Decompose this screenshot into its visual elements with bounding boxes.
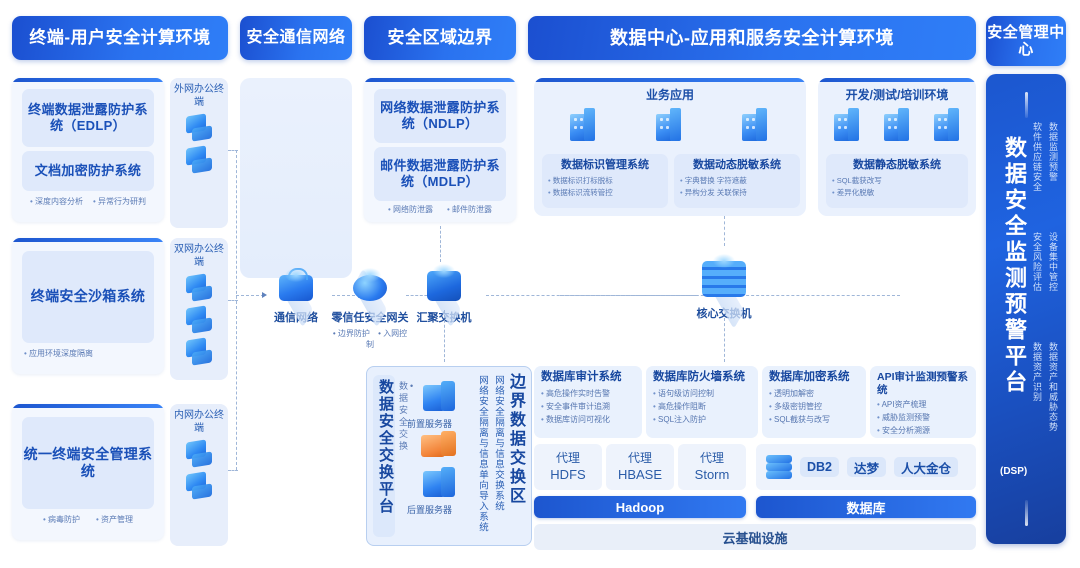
system-edlp: 终端数据泄露防护系统（EDLP） [22,89,154,147]
db-system-audit: 数据库审计系统 高危操作实时告警 安全事件审计追溯 数据库访问可视化 [534,366,642,438]
zone-system-exchange: 网络安全隔离与信息交换系统 [491,375,505,512]
dsp-capability-1-right: 设备集中管控 [1047,232,1060,292]
device-core-switch: 核心交换机 [676,246,772,322]
connector-core-down [724,318,725,362]
boundary-exchange-zone: 边界数据交换区 网络安全隔离与信息交换系统 网络安全隔离与信息单向导入系统 前置… [366,366,532,546]
core-switch-icon [676,246,772,304]
boundary-card-ndlp: 网络数据泄露防护系统（NDLP） 邮件数据泄露防护系统（MDLP） 网络防泄露 … [364,78,516,222]
terminal-stack-dual: 双网办公终端 [170,238,228,380]
header-terminal-env: 终端-用户安全计算环境 [12,16,228,60]
pc-icon [184,307,214,333]
terminal-card-edlp: 终端数据泄露防护系统（EDLP） 文档加密防护系统 深度内容分析 异常行为研判 [12,78,164,222]
comm-panel [240,78,352,278]
system-doc-encrypt: 文档加密防护系统 [22,151,154,191]
pc-icon [184,473,214,499]
db-system-api-audit: API审计监测预警系统 API资产梳理 威胁监测预警 安全分析溯源 [870,366,976,438]
bar-cloud-infra: 云基础设施 [534,524,976,550]
terminal-card-sandbox: 终端安全沙箱系统 应用环境深度隔离 [12,238,164,374]
agent-storm: 代理 Storm [678,444,746,490]
app-data-label-mgmt: 数据标识管理系统 数据标识打标脱标 数据标识流转管控 [542,154,668,208]
building-icon [656,108,682,142]
system-mdlp: 邮件数据泄露防护系统（MDLP） [374,147,506,201]
dsp-capability-0-left: 软件供应链安全 [1031,122,1044,192]
pc-icon [184,115,214,141]
system-sandbox: 终端安全沙箱系统 [22,251,154,343]
db-system-firewall: 数据库防火墙系统 语句级访问控制 高危操作阻断 SQL注入防护 [646,366,758,438]
db-chip-db2[interactable]: DB2 [800,457,839,477]
group-dev-test-env-title: 开发/测试/培训环境 [818,86,976,103]
building-icon [742,108,768,142]
terminal-card-unified-bullets: 病毒防护 资产管理 [18,515,158,525]
header-boundary: 安全区域边界 [364,16,516,60]
connector-switch-down [444,310,445,362]
connector-int-term [228,470,238,471]
pc-icon [184,147,214,173]
header-datacenter-label: 数据中心-应用和服务安全计算环境 [610,28,894,49]
group-business-application: 业务应用 数据标识管理系统 数据标识打标脱标 数据标识流转管控 数据动态脱敏系统… [534,78,806,216]
system-unified-terminal: 统一终端安全管理系统 [22,417,154,509]
building-icon [884,108,910,142]
bar-database: 数据库 [756,496,976,518]
firewall-icon [421,431,457,459]
terminal-stack-external-label: 外网办公终端 [170,84,228,109]
pc-icon [184,441,214,467]
connector-dual-term [228,300,238,301]
agent-hdfs: 代理 HDFS [534,444,602,490]
group-dev-test-env: 开发/测试/培训环境 数据静态脱敏系统 SQL截获改写 差异化脱敏 [818,78,976,216]
database-stack-icon [766,455,792,479]
terminal-stack-internal-label: 内网办公终端 [170,410,228,435]
device-comm-network: 通信网络 [258,262,334,326]
pc-icon [184,339,214,365]
terminal-stack-internal: 内网办公终端 [170,404,228,546]
dsp-capability-0-right: 数据监测预警 [1047,122,1060,182]
dsp-tick-bottom [1025,500,1028,526]
dsp-tick-top [1025,92,1028,118]
header-security-center-label: 安全管理中心 [986,24,1066,59]
dsp-capability-1-left: 安全风险评估 [1031,232,1044,292]
building-icon [570,108,596,142]
dsp-platform-panel: 数据安全监测预警平台 (DSP) 数据监测预警 软件供应链安全 设备集中管控 安… [986,74,1066,544]
header-datacenter: 数据中心-应用和服务安全计算环境 [528,16,976,60]
back-server-icon [423,467,457,499]
header-boundary-label: 安全区域边界 [388,28,493,48]
connector-core-up [724,216,725,246]
app-static-masking: 数据静态脱敏系统 SQL截获改写 差异化脱敏 [826,154,968,208]
terminal-card-sandbox-bullets: 应用环境深度隔离 [24,349,158,359]
device-zero-trust-gateway-bullets: 边界防护 入网控制 [330,328,410,350]
terminal-card-unified: 统一终端安全管理系统 病毒防护 资产管理 [12,404,164,540]
device-zero-trust-gateway: 零信任安全网关 边界防护 入网控制 [330,262,410,350]
back-server-label: 后置服务器 [407,503,452,516]
boundary-exchange-zone-title: 边界数据交换区 [503,373,527,506]
system-ndlp: 网络数据泄露防护系统（NDLP） [374,89,506,143]
zone-platform-bullet: •数据安全交换 [397,381,416,453]
dsp-platform-title: 数据安全监测预警平台 [998,136,1030,396]
db-chip-dameng[interactable]: 达梦 [847,457,886,477]
bar-hadoop: Hadoop [534,496,746,518]
connector-ext-term [228,150,238,151]
zone-platform-title: 数据安全交换平台 [375,379,396,515]
terminal-stack-dual-label: 双网办公终端 [170,244,228,269]
group-business-application-title: 业务应用 [534,86,806,103]
connector-vertical-terminals [236,150,237,470]
gateway-icon [330,262,410,308]
db-chip-row: DB2 达梦 人大金仓 [756,444,976,490]
header-terminal-env-label: 终端-用户安全计算环境 [29,28,210,48]
app-dynamic-masking: 数据动态脱敏系统 字典替换 字符遮蔽 异构分发 关联保持 [674,154,800,208]
dsp-capability-2-left: 数据资产识别 [1031,342,1044,402]
header-comm-network: 安全通信网络 [240,16,352,60]
dsp-capability-2-right: 数据资产和威胁态势 [1047,342,1060,432]
connector-ndlp-down [440,226,441,262]
header-comm-network-label: 安全通信网络 [246,29,345,47]
dsp-platform-acronym: (DSP) [1000,466,1027,477]
pc-icon [184,275,214,301]
zone-system-oneway: 网络安全隔离与信息单向导入系统 [475,375,489,533]
terminal-card-edlp-bullets: 深度内容分析 异常行为研判 [18,197,158,207]
building-icon [934,108,960,142]
building-icon [834,108,860,142]
header-security-center: 安全管理中心 [986,16,1066,66]
agent-hbase: 代理 HBASE [606,444,674,490]
switch-icon [404,258,484,308]
db-system-encrypt: 数据库加密系统 透明加解密 多级密钥管控 SQL截获与改写 [762,366,866,438]
db-chip-kingbase[interactable]: 人大金仓 [894,457,958,477]
boundary-card-bullets: 网络防泄露 邮件防泄露 [370,205,510,215]
router-icon [258,262,334,308]
front-server-icon [423,381,457,413]
terminal-stack-external: 外网办公终端 [170,78,228,228]
